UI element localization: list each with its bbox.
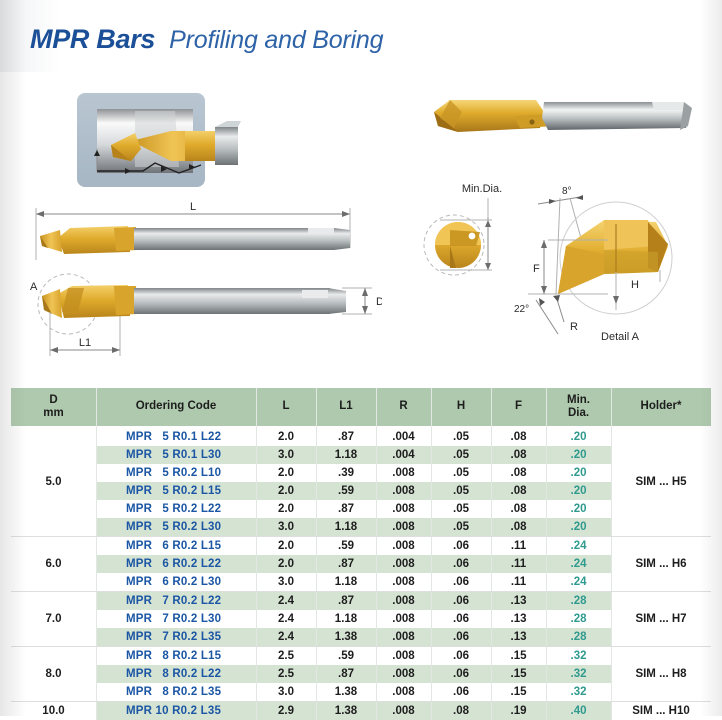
cell-r: .008 xyxy=(376,518,431,537)
cell-h: .06 xyxy=(431,665,491,683)
cell-l1: 1.18 xyxy=(316,518,376,537)
angle-label-22: 22° xyxy=(514,304,529,315)
cell-ordering-code: MPR 6 R0.2 L30 xyxy=(96,573,256,592)
angle-label-8: 8° xyxy=(562,186,572,197)
cell-l1: .87 xyxy=(316,426,376,446)
col-header-r: R xyxy=(376,388,431,426)
cell-holder: SIM ... H8 xyxy=(611,647,711,702)
cell-r: .008 xyxy=(376,683,431,702)
table-row: MPR 6 R0.2 L222.0.87.008.06.11.24 xyxy=(11,555,711,573)
cell-r: .008 xyxy=(376,647,431,666)
cell-min-dia: .20 xyxy=(546,482,611,500)
cell-diameter: 6.0 xyxy=(11,537,96,592)
cell-l: 2.0 xyxy=(256,482,316,500)
cell-f: .11 xyxy=(491,555,546,573)
cell-min-dia: .20 xyxy=(546,500,611,518)
cell-min-dia: .32 xyxy=(546,683,611,702)
col-header-d: D mm xyxy=(11,388,96,426)
col-header-holder: Holder* xyxy=(611,388,711,426)
spec-table: D mm Ordering Code L L1 R H F Min. xyxy=(11,388,711,720)
cell-r: .008 xyxy=(376,537,431,556)
cell-h: .05 xyxy=(431,426,491,446)
cell-ordering-code: MPR 7 R0.2 L22 xyxy=(96,592,256,611)
cell-h: .06 xyxy=(431,592,491,611)
cell-l: 2.5 xyxy=(256,647,316,666)
cell-min-dia: .28 xyxy=(546,628,611,647)
cell-l: 2.0 xyxy=(256,464,316,482)
cell-h: .06 xyxy=(431,628,491,647)
cell-l: 2.0 xyxy=(256,500,316,518)
cell-h: .06 xyxy=(431,647,491,666)
cell-h: .06 xyxy=(431,610,491,628)
cell-f: .15 xyxy=(491,665,546,683)
cell-f: .08 xyxy=(491,426,546,446)
cell-h: .08 xyxy=(431,702,491,720)
cell-ordering-code: MPR 6 R0.2 L22 xyxy=(96,555,256,573)
figure-cross-section xyxy=(75,87,275,197)
cell-h: .05 xyxy=(431,482,491,500)
cell-l: 3.0 xyxy=(256,518,316,537)
cell-l1: .59 xyxy=(316,482,376,500)
table-row: 6.0MPR 6 R0.2 L152.0.59.008.06.11.24SIM … xyxy=(11,537,711,556)
col-header-ordering-code: Ordering Code xyxy=(96,388,256,426)
cell-f: .15 xyxy=(491,647,546,666)
cell-f: .13 xyxy=(491,628,546,647)
cell-f: .08 xyxy=(491,500,546,518)
dim-label-F: F xyxy=(533,263,540,275)
table-row: MPR 5 R0.2 L222.0.87.008.05.08.20 xyxy=(11,500,711,518)
cell-f: .13 xyxy=(491,610,546,628)
cell-min-dia: .24 xyxy=(546,537,611,556)
cell-ordering-code: MPR 6 R0.2 L15 xyxy=(96,537,256,556)
cell-l: 2.4 xyxy=(256,610,316,628)
table-row: MPR 7 R0.2 L352.41.38.008.06.13.28 xyxy=(11,628,711,647)
dim-label-D: D xyxy=(376,296,382,308)
dim-label-H: H xyxy=(631,279,639,291)
cell-r: .008 xyxy=(376,665,431,683)
cell-r: .008 xyxy=(376,628,431,647)
dim-label-A: A xyxy=(30,281,38,293)
cell-ordering-code: MPR 5 R0.2 L15 xyxy=(96,482,256,500)
cell-holder: SIM ... H10 xyxy=(611,702,711,720)
col-header-f: F xyxy=(491,388,546,426)
dim-label-L1: L1 xyxy=(79,337,91,349)
table-row: MPR 5 R0.2 L102.0.39.008.05.08.20 xyxy=(11,464,711,482)
cell-min-dia: .24 xyxy=(546,555,611,573)
col-header-h: H xyxy=(431,388,491,426)
cell-l: 3.0 xyxy=(256,573,316,592)
cell-l1: 1.18 xyxy=(316,573,376,592)
cell-l1: 1.38 xyxy=(316,628,376,647)
dim-label-R: R xyxy=(570,321,578,333)
page-header: MPR BarsProfiling and Boring xyxy=(0,0,722,72)
cell-r: .008 xyxy=(376,500,431,518)
cell-holder: SIM ... H6 xyxy=(611,537,711,592)
table-row: 10.0MPR 10 R0.2 L352.91.38.008.08.19.40S… xyxy=(11,702,711,720)
cell-min-dia: .40 xyxy=(546,702,611,720)
cell-min-dia: .32 xyxy=(546,647,611,666)
col-header-min-dia: Min. Dia. xyxy=(546,388,611,426)
cell-h: .06 xyxy=(431,683,491,702)
table-row: MPR 8 R0.2 L353.01.38.008.06.15.32 xyxy=(11,683,711,702)
title-main: MPR Bars xyxy=(30,24,155,54)
figure-side-view-L: L xyxy=(18,200,368,270)
cell-h: .06 xyxy=(431,555,491,573)
table-row: 7.0MPR 7 R0.2 L222.4.87.008.06.13.28SIM … xyxy=(11,592,711,611)
cell-l1: .87 xyxy=(316,555,376,573)
cell-f: .08 xyxy=(491,446,546,464)
cell-l1: .59 xyxy=(316,647,376,666)
dim-label-L: L xyxy=(190,201,196,213)
figure-3d-tool xyxy=(428,88,698,148)
cell-l: 3.0 xyxy=(256,683,316,702)
figure-panel: L A L1 D xyxy=(0,72,722,382)
cell-diameter: 8.0 xyxy=(11,647,96,702)
cell-ordering-code: MPR 7 R0.2 L30 xyxy=(96,610,256,628)
dim-label-min-dia: Min.Dia. xyxy=(462,183,502,195)
table-row: MPR 5 R0.2 L152.0.59.008.05.08.20 xyxy=(11,482,711,500)
cell-ordering-code: MPR 5 R0.1 L22 xyxy=(96,426,256,446)
cell-ordering-code: MPR 8 R0.2 L15 xyxy=(96,647,256,666)
table-row: MPR 6 R0.2 L303.01.18.008.06.11.24 xyxy=(11,573,711,592)
cell-ordering-code: MPR 8 R0.2 L35 xyxy=(96,683,256,702)
cell-ordering-code: MPR 7 R0.2 L35 xyxy=(96,628,256,647)
page-title: MPR BarsProfiling and Boring xyxy=(30,24,383,55)
figure-detail-a: 8° F H 22° R Detail A xyxy=(508,182,718,347)
cell-r: .008 xyxy=(376,592,431,611)
cell-l: 2.0 xyxy=(256,426,316,446)
cell-holder: SIM ... H7 xyxy=(611,592,711,647)
cell-holder: SIM ... H5 xyxy=(611,426,711,537)
cell-l1: 1.18 xyxy=(316,610,376,628)
cell-r: .004 xyxy=(376,446,431,464)
detail-a-caption: Detail A xyxy=(601,331,640,343)
cell-h: .06 xyxy=(431,573,491,592)
cell-l: 2.0 xyxy=(256,555,316,573)
cell-r: .008 xyxy=(376,610,431,628)
cell-l1: 1.38 xyxy=(316,702,376,720)
cell-l1: .87 xyxy=(316,665,376,683)
cell-l1: 1.18 xyxy=(316,446,376,464)
cell-ordering-code: MPR 5 R0.2 L10 xyxy=(96,464,256,482)
cell-l1: .87 xyxy=(316,592,376,611)
cell-ordering-code: MPR 5 R0.1 L30 xyxy=(96,446,256,464)
cell-ordering-code: MPR 5 R0.2 L30 xyxy=(96,518,256,537)
cell-r: .008 xyxy=(376,555,431,573)
cell-l1: .59 xyxy=(316,537,376,556)
cell-min-dia: .20 xyxy=(546,464,611,482)
cell-min-dia: .28 xyxy=(546,592,611,611)
cell-h: .05 xyxy=(431,500,491,518)
cell-min-dia: .20 xyxy=(546,446,611,464)
cell-ordering-code: MPR 8 R0.2 L22 xyxy=(96,665,256,683)
cell-f: .13 xyxy=(491,592,546,611)
cell-min-dia: .24 xyxy=(546,573,611,592)
cell-f: .08 xyxy=(491,464,546,482)
cell-min-dia: .32 xyxy=(546,665,611,683)
cell-l: 2.5 xyxy=(256,665,316,683)
cell-min-dia: .20 xyxy=(546,518,611,537)
cell-min-dia: .28 xyxy=(546,610,611,628)
cell-ordering-code: MPR 5 R0.2 L22 xyxy=(96,500,256,518)
cell-l1: .87 xyxy=(316,500,376,518)
table-row: 5.0MPR 5 R0.1 L222.0.87.004.05.08.20SIM … xyxy=(11,426,711,446)
cell-h: .05 xyxy=(431,446,491,464)
cell-f: .11 xyxy=(491,537,546,556)
cell-f: .08 xyxy=(491,518,546,537)
cell-diameter: 5.0 xyxy=(11,426,96,537)
table-row: MPR 8 R0.2 L222.5.87.008.06.15.32 xyxy=(11,665,711,683)
table-row: MPR 7 R0.2 L302.41.18.008.06.13.28 xyxy=(11,610,711,628)
cell-l: 2.0 xyxy=(256,537,316,556)
cell-h: .05 xyxy=(431,464,491,482)
figure-side-view-L1-D: A L1 D xyxy=(10,262,382,372)
cell-l: 2.4 xyxy=(256,592,316,611)
cell-f: .19 xyxy=(491,702,546,720)
cell-diameter: 7.0 xyxy=(11,592,96,647)
cell-r: .008 xyxy=(376,482,431,500)
table-row: MPR 5 R0.1 L303.01.18.004.05.08.20 xyxy=(11,446,711,464)
cell-min-dia: .20 xyxy=(546,426,611,446)
table-header-row: D mm Ordering Code L L1 R H F Min. xyxy=(11,388,711,426)
cell-l: 2.4 xyxy=(256,628,316,647)
cell-ordering-code: MPR 10 R0.2 L35 xyxy=(96,702,256,720)
cell-f: .11 xyxy=(491,573,546,592)
cell-f: .15 xyxy=(491,683,546,702)
table-body: 5.0MPR 5 R0.1 L222.0.87.004.05.08.20SIM … xyxy=(11,426,711,720)
cell-h: .05 xyxy=(431,518,491,537)
cell-r: .008 xyxy=(376,464,431,482)
table-row: 8.0MPR 8 R0.2 L152.5.59.008.06.15.32SIM … xyxy=(11,647,711,666)
cell-l1: 1.38 xyxy=(316,683,376,702)
cell-r: .008 xyxy=(376,702,431,720)
col-header-l: L xyxy=(256,388,316,426)
cell-f: .08 xyxy=(491,482,546,500)
cell-h: .06 xyxy=(431,537,491,556)
cell-diameter: 10.0 xyxy=(11,702,96,720)
cell-l: 3.0 xyxy=(256,446,316,464)
cell-l1: .39 xyxy=(316,464,376,482)
title-subtitle: Profiling and Boring xyxy=(169,26,383,54)
cell-l: 2.9 xyxy=(256,702,316,720)
table-row: MPR 5 R0.2 L303.01.18.008.05.08.20 xyxy=(11,518,711,537)
col-header-l1: L1 xyxy=(316,388,376,426)
cell-r: .004 xyxy=(376,426,431,446)
cell-r: .008 xyxy=(376,573,431,592)
